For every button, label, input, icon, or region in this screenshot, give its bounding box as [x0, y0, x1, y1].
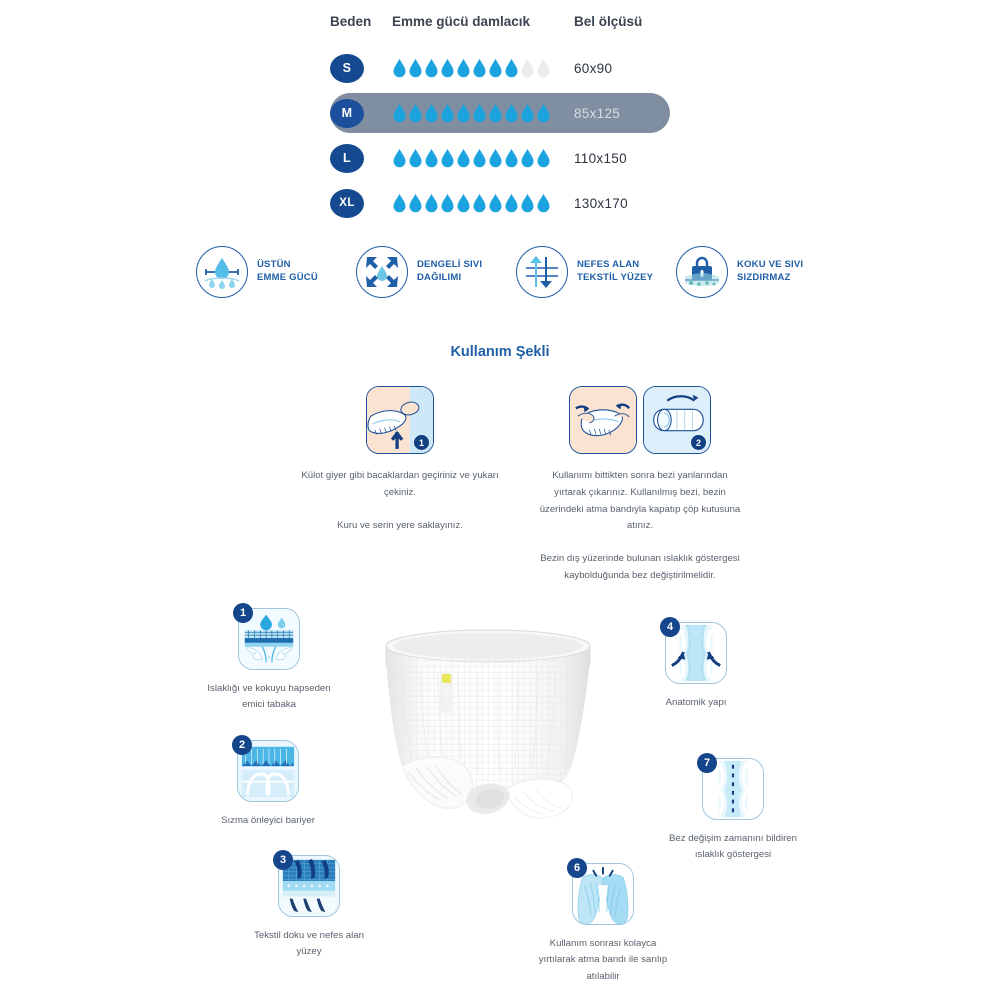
usage-step-1-images: 1 [366, 386, 434, 454]
callout-number-badge: 3 [273, 850, 293, 870]
feature-label-2: DENGELİ SIVIDAĞILIMI [417, 259, 482, 284]
callout-number-badge: 1 [233, 603, 253, 623]
callout-2: 2 Sızma önleyici bariyer [208, 740, 328, 829]
size-badge-cell: L [330, 144, 392, 173]
droplet-icon [472, 103, 487, 124]
table-header-row: Beden Emme gücü damlacık Bel ölçüsü [330, 14, 670, 48]
absorbency-drops-m [392, 103, 574, 124]
droplet-icon [520, 58, 535, 79]
usage-steps: 1 Külot giyer gibi bacaklardan geçiriniz… [280, 386, 760, 585]
size-badge-cell: XL [330, 189, 392, 218]
droplet-icon [456, 103, 471, 124]
callout-1: 1 [206, 608, 332, 714]
droplet-icon [504, 193, 519, 214]
size-badge-s: S [330, 54, 364, 83]
callout-number-badge: 7 [697, 753, 717, 773]
size-row-s: S60x90 [330, 48, 670, 88]
usage-step-2: 2 Kullanımı bittikten sonra bezi yanları… [520, 386, 760, 585]
droplet-icon [520, 193, 535, 214]
callout-3-icon-wrap: 3 [278, 855, 340, 917]
droplet-icon [392, 103, 407, 124]
droplet-icon [520, 103, 535, 124]
waist-size-m: 85x125 [574, 106, 670, 121]
droplet-icon [408, 193, 423, 214]
absorbency-drops-l [392, 148, 574, 169]
size-badge-cell: S [330, 54, 392, 83]
up-down-arrows-icon [516, 246, 568, 298]
usage-step-2-text-secondary: Bezin dış yüzerinde bulunan ıslaklık gös… [538, 551, 743, 585]
droplet-icon [456, 193, 471, 214]
absorbency-drops-s [392, 58, 574, 79]
feature-2: DENGELİ SIVIDAĞILIMI [356, 246, 516, 298]
droplet-icon [408, 148, 423, 169]
callout-number-badge: 6 [567, 858, 587, 878]
waist-size-xl: 130x170 [574, 196, 670, 211]
callout-7: 7 Bez değişim zamanını bildiren ıslaklık… [663, 758, 803, 864]
callout-3: 3 [245, 855, 373, 961]
droplet-icon [488, 58, 503, 79]
droplet-icon [520, 148, 535, 169]
pull-up-illustration: 1 [366, 386, 434, 454]
feature-label-4: KOKU VE SIVISIZDIRMAZ [737, 259, 803, 284]
size-absorbency-table: Beden Emme gücü damlacık Bel ölçüsü S60x… [330, 14, 670, 228]
callout-7-text: Bez değişim zamanını bildiren ıslaklık g… [663, 831, 803, 864]
feature-label-1: ÜSTÜNEMME GÜCÜ [257, 259, 318, 284]
droplet-icon [536, 193, 551, 214]
droplet-icon [504, 58, 519, 79]
droplet-icon [440, 103, 455, 124]
feature-label-line1: DENGELİ SIVI [417, 259, 482, 272]
size-badge-m: M [330, 99, 364, 128]
feature-3: NEFES ALANTEKSTİL YÜZEY [516, 246, 676, 298]
usage-step-1-text-secondary: Kuru ve serin yere saklayınız. [298, 518, 503, 535]
usage-step-1: 1 Külot giyer gibi bacaklardan geçiriniz… [280, 386, 520, 585]
column-header-waist: Bel ölçüsü [574, 14, 670, 29]
feature-label-line1: KOKU VE SIVI [737, 259, 803, 272]
droplet-icon [424, 148, 439, 169]
droplet-icon [472, 148, 487, 169]
droplet-icon [440, 148, 455, 169]
droplet-icon [536, 103, 551, 124]
droplet-icon [424, 103, 439, 124]
step-number-badge: 2 [691, 435, 706, 450]
size-badge-xl: XL [330, 189, 364, 218]
absorbency-drops-xl [392, 193, 574, 214]
callout-6: 6 Kullanım sonrası kolayca yırtı [533, 863, 673, 985]
droplet-icon [424, 193, 439, 214]
callout-number-badge: 2 [232, 735, 252, 755]
feature-label-3: NEFES ALANTEKSTİL YÜZEY [577, 259, 653, 284]
feature-icons-row: ÜSTÜNEMME GÜCÜDENGELİ SIVIDAĞILIMINEFES … [196, 246, 836, 298]
usage-step-2-images: 2 [569, 386, 711, 454]
feature-label-line1: ÜSTÜN [257, 259, 318, 272]
size-badge-l: L [330, 144, 364, 173]
feature-label-line2: TEKSTİL YÜZEY [577, 272, 653, 285]
size-badge-cell: M [330, 99, 392, 128]
droplet-icon [440, 193, 455, 214]
feature-label-line2: EMME GÜCÜ [257, 272, 318, 285]
droplet-icon [424, 58, 439, 79]
feature-label-line2: DAĞILIMI [417, 272, 482, 285]
callout-number-badge: 4 [660, 617, 680, 637]
droplet-icon [504, 148, 519, 169]
callout-4-icon-wrap: 4 [665, 622, 727, 684]
callout-1-text: Islaklığı ve kokuyu hapseden emici tabak… [206, 681, 332, 714]
callout-6-icon-wrap: 6 [572, 863, 634, 925]
usage-step-1-text-primary: Külot giyer gibi bacaklardan geçiriniz v… [298, 468, 503, 502]
absorption-drop-icon [196, 246, 248, 298]
column-header-size: Beden [330, 14, 392, 29]
size-row-m: M85x125 [330, 93, 670, 133]
callout-3-text: Tekstil doku ve nefes alan yüzey [245, 928, 373, 961]
droplet-icon [488, 103, 503, 124]
droplet-icon [504, 103, 519, 124]
droplet-icon [408, 103, 423, 124]
size-row-xl: XL130x170 [330, 183, 670, 223]
droplet-icon [392, 193, 407, 214]
four-arrows-drop-icon [356, 246, 408, 298]
droplet-icon [536, 148, 551, 169]
droplet-icon [392, 148, 407, 169]
callout-4: 4 Anatomik y [637, 622, 755, 711]
feature-label-line2: SIZDIRMAZ [737, 272, 803, 285]
callout-2-icon-wrap: 2 [237, 740, 299, 802]
product-photo [368, 612, 608, 852]
column-header-absorbency: Emme gücü damlacık [392, 14, 574, 29]
waist-size-s: 60x90 [574, 61, 670, 76]
feature-1: ÜSTÜNEMME GÜCÜ [196, 246, 356, 298]
callout-1-icon-wrap: 1 [238, 608, 300, 670]
droplet-icon [440, 58, 455, 79]
step-number-badge: 1 [414, 435, 429, 450]
product-info-page: Beden Emme gücü damlacık Bel ölçüsü S60x… [0, 0, 1000, 1000]
usage-step-2-text-primary: Kullanımı bittikten sonra bezi yanlarınd… [538, 468, 743, 535]
waist-size-l: 110x150 [574, 151, 670, 166]
droplet-icon [408, 58, 423, 79]
droplet-icon [456, 148, 471, 169]
callout-6-text: Kullanım sonrası kolayca yırtılarak atma… [533, 936, 673, 985]
callout-4-text: Anatomik yapı [666, 695, 727, 711]
tear-sides-illustration [569, 386, 637, 454]
droplet-icon [456, 58, 471, 79]
lock-odor-icon [676, 246, 728, 298]
droplet-icon [488, 148, 503, 169]
roll-and-dispose-illustration: 2 [643, 386, 711, 454]
usage-section-title: Kullanım Şekli [0, 344, 1000, 360]
droplet-icon [472, 58, 487, 79]
droplet-icon [536, 58, 551, 79]
droplet-icon [392, 58, 407, 79]
feature-4: KOKU VE SIVISIZDIRMAZ [676, 246, 836, 298]
table-body: S60x90M85x125L110x150XL130x170 [330, 48, 670, 223]
callout-2-text: Sızma önleyici bariyer [221, 813, 315, 829]
droplet-icon [472, 193, 487, 214]
size-row-l: L110x150 [330, 138, 670, 178]
feature-label-line1: NEFES ALAN [577, 259, 653, 272]
callout-7-icon-wrap: 7 [702, 758, 764, 820]
droplet-icon [488, 193, 503, 214]
